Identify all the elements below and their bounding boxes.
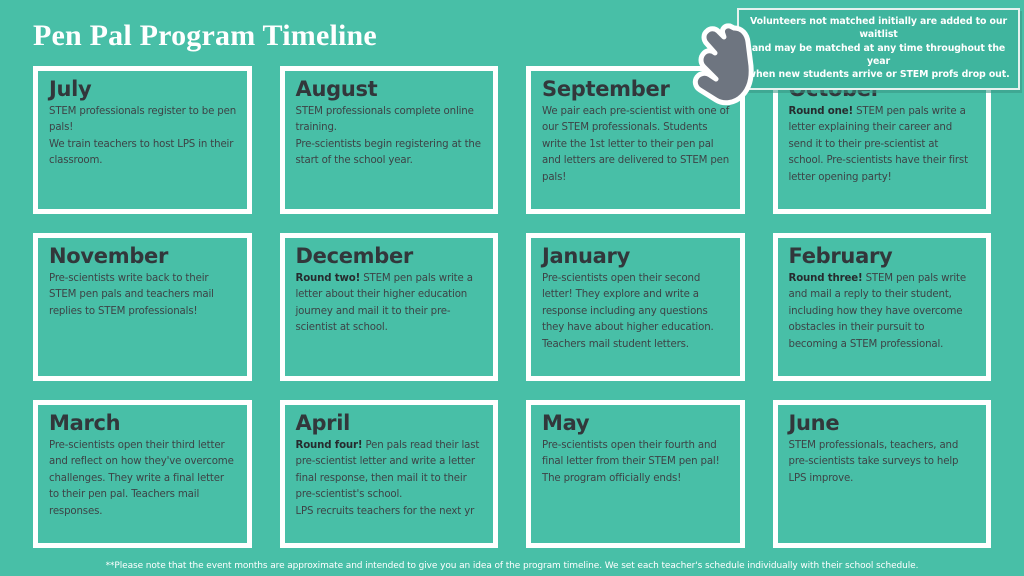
- month-description: Round two! STEM pen pals write a letter …: [296, 271, 484, 337]
- tooltip-line-2: and may be matched at any time throughou…: [747, 42, 1010, 69]
- month-heading: May: [542, 412, 730, 435]
- month-description-text: STEM professionals complete online train…: [296, 106, 481, 167]
- month-card-inner: MayPre-scientists open their fourth and …: [530, 404, 741, 544]
- tooltip-line-3: when new students arrive or STEM profs d…: [747, 68, 1010, 81]
- month-heading: July: [49, 78, 237, 101]
- month-description-text: Pre-scientists write back to their STEM …: [49, 273, 214, 317]
- month-heading: March: [49, 412, 237, 435]
- month-heading: September: [542, 78, 730, 101]
- month-description: STEM professionals register to be pen pa…: [49, 104, 237, 170]
- waitlist-tooltip: Volunteers not matched initially are add…: [737, 8, 1020, 90]
- month-description-text: Pen pals read their last pre-scientist l…: [296, 440, 480, 517]
- round-label: Round two!: [296, 273, 361, 284]
- month-card-inner: DecemberRound two! STEM pen pals write a…: [284, 237, 495, 377]
- month-card[interactable]: JuneSTEM professionals, teachers, and pr…: [773, 400, 992, 548]
- month-description: Pre-scientists open their second letter!…: [542, 271, 730, 354]
- month-description-text: STEM professionals, teachers, and pre-sc…: [789, 440, 959, 484]
- month-description: Round one! STEM pen pals write a letter …: [789, 104, 977, 187]
- month-description: Pre-scientists open their fourth and fin…: [542, 438, 730, 488]
- month-heading: June: [789, 412, 977, 435]
- month-heading: April: [296, 412, 484, 435]
- month-description-text: STEM pen pals write and mail a reply to …: [789, 273, 967, 350]
- month-card-inner: SeptemberWe pair each pre-scientist with…: [530, 70, 741, 210]
- month-description-text: STEM professionals register to be pen pa…: [49, 106, 236, 167]
- month-description-text: Pre-scientists open their fourth and fin…: [542, 440, 720, 484]
- month-card[interactable]: FebruaryRound three! STEM pen pals write…: [773, 233, 992, 381]
- month-card-grid: JulySTEM professionals register to be pe…: [33, 66, 991, 548]
- month-heading: November: [49, 245, 237, 268]
- month-card-inner: JulySTEM professionals register to be pe…: [37, 70, 248, 210]
- round-label: Round one!: [789, 106, 854, 117]
- month-heading: August: [296, 78, 484, 101]
- month-card[interactable]: AugustSTEM professionals complete online…: [280, 66, 499, 214]
- round-label: Round four!: [296, 440, 363, 451]
- month-card-inner: AugustSTEM professionals complete online…: [284, 70, 495, 210]
- month-card-inner: OctoberRound one! STEM pen pals write a …: [777, 70, 988, 210]
- month-card[interactable]: JulySTEM professionals register to be pe…: [33, 66, 252, 214]
- month-description: We pair each pre-scientist with one of o…: [542, 104, 730, 187]
- month-card[interactable]: AprilRound four! Pen pals read their las…: [280, 400, 499, 548]
- month-card[interactable]: JanuaryPre-scientists open their second …: [526, 233, 745, 381]
- month-description: STEM professionals complete online train…: [296, 104, 484, 170]
- month-card-inner: MarchPre-scientists open their third let…: [37, 404, 248, 544]
- month-card[interactable]: NovemberPre-scientists write back to the…: [33, 233, 252, 381]
- month-card-inner: NovemberPre-scientists write back to the…: [37, 237, 248, 377]
- tooltip-line-1: Volunteers not matched initially are add…: [747, 15, 1010, 42]
- month-description-text: STEM pen pals write a letter explaining …: [789, 106, 968, 183]
- month-card[interactable]: MayPre-scientists open their fourth and …: [526, 400, 745, 548]
- timeline-slide: Pen Pal Program Timeline JulySTEM profes…: [0, 0, 1024, 576]
- round-label: Round three!: [789, 273, 863, 284]
- month-heading: January: [542, 245, 730, 268]
- month-description: STEM professionals, teachers, and pre-sc…: [789, 438, 977, 488]
- month-description-text: We pair each pre-scientist with one of o…: [542, 106, 729, 183]
- month-card[interactable]: DecemberRound two! STEM pen pals write a…: [280, 233, 499, 381]
- footer-note: **Please note that the event months are …: [0, 561, 1024, 571]
- month-card-inner: JanuaryPre-scientists open their second …: [530, 237, 741, 377]
- month-description: Pre-scientists write back to their STEM …: [49, 271, 237, 321]
- page-title: Pen Pal Program Timeline: [33, 19, 377, 53]
- month-card-inner: JuneSTEM professionals, teachers, and pr…: [777, 404, 988, 544]
- month-card[interactable]: MarchPre-scientists open their third let…: [33, 400, 252, 548]
- month-heading: February: [789, 245, 977, 268]
- month-description: Pre-scientists open their third letter a…: [49, 438, 237, 521]
- month-card[interactable]: SeptemberWe pair each pre-scientist with…: [526, 66, 745, 214]
- month-description: Round three! STEM pen pals write and mai…: [789, 271, 977, 354]
- month-card-inner: AprilRound four! Pen pals read their las…: [284, 404, 495, 544]
- month-description-text: Pre-scientists open their third letter a…: [49, 440, 234, 517]
- month-heading: December: [296, 245, 484, 268]
- month-card-inner: FebruaryRound three! STEM pen pals write…: [777, 237, 988, 377]
- month-description: Round four! Pen pals read their last pre…: [296, 438, 484, 521]
- month-description-text: Pre-scientists open their second letter!…: [542, 273, 714, 350]
